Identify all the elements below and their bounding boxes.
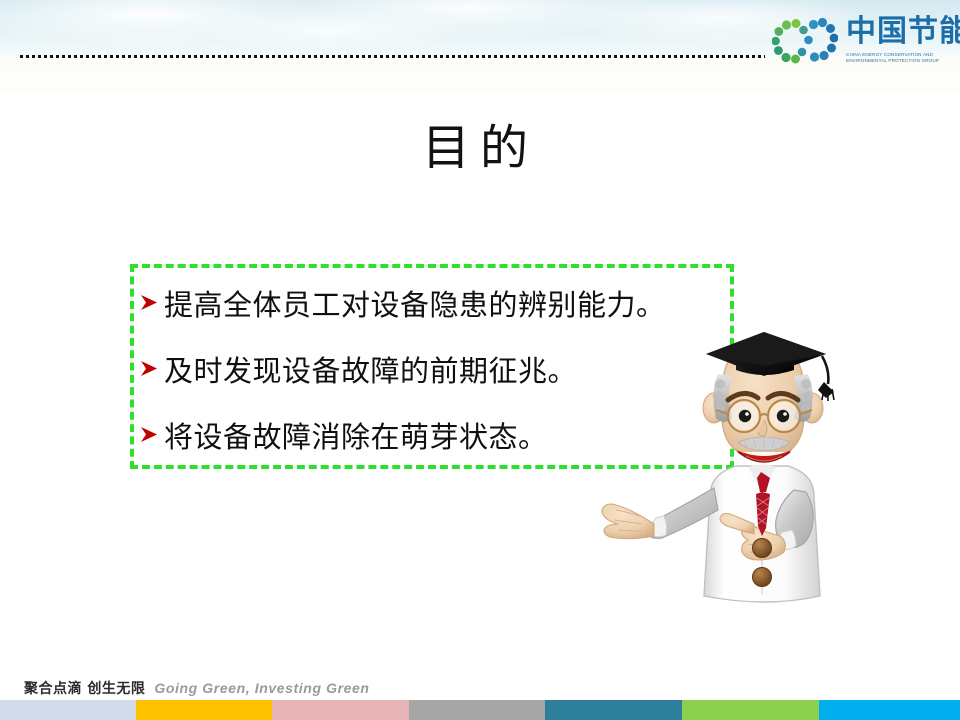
slide-canvas: 中国节能 CHINA ENERGY CONSERVATION AND ENVIR… xyxy=(0,0,960,720)
color-bar-segment-cyan xyxy=(819,700,960,720)
footer-slogan-cn: 聚合点滴 创生无限 xyxy=(24,678,145,698)
company-logo: 中国节能 CHINA ENERGY CONSERVATION AND ENVIR… xyxy=(772,14,948,72)
page-title: 目的 xyxy=(0,108,960,178)
professor-mascot-illustration xyxy=(598,296,908,626)
color-bar-segment-green xyxy=(682,700,819,720)
color-bar-segment-gold xyxy=(136,700,272,720)
arrow-bullet-icon xyxy=(136,356,162,382)
cenep-dots-logo-icon xyxy=(772,16,838,68)
arrow-bullet-icon xyxy=(136,290,162,316)
arrow-bullet-icon xyxy=(136,422,162,448)
bullet-text: 提高全体员工对设备隐患的辨别能力。 xyxy=(164,282,666,324)
bullet-text: 将设备故障消除在萌芽状态。 xyxy=(164,414,548,456)
color-bar-segment-gray xyxy=(409,700,545,720)
color-bar-segment-lavender xyxy=(0,700,136,720)
color-bar-segment-pink xyxy=(272,700,409,720)
footer-slogan: 聚合点滴 创生无限 Going Green, Investing Green xyxy=(24,678,370,698)
footer-slogan-en: Going Green, Investing Green xyxy=(154,680,369,696)
color-bar-segment-teal xyxy=(545,700,682,720)
logo-subtitle: CHINA ENERGY CONSERVATION AND ENVIRONMEN… xyxy=(846,52,950,64)
logo-wordmark: 中国节能 xyxy=(846,14,948,50)
footer-color-bar xyxy=(0,700,960,720)
header-dotted-divider xyxy=(20,55,765,58)
bullet-text: 及时发现设备故障的前期征兆。 xyxy=(164,348,577,390)
logo-subtitle-line2: ENVIRONMENTAL PROTECTION GROUP xyxy=(846,58,950,64)
